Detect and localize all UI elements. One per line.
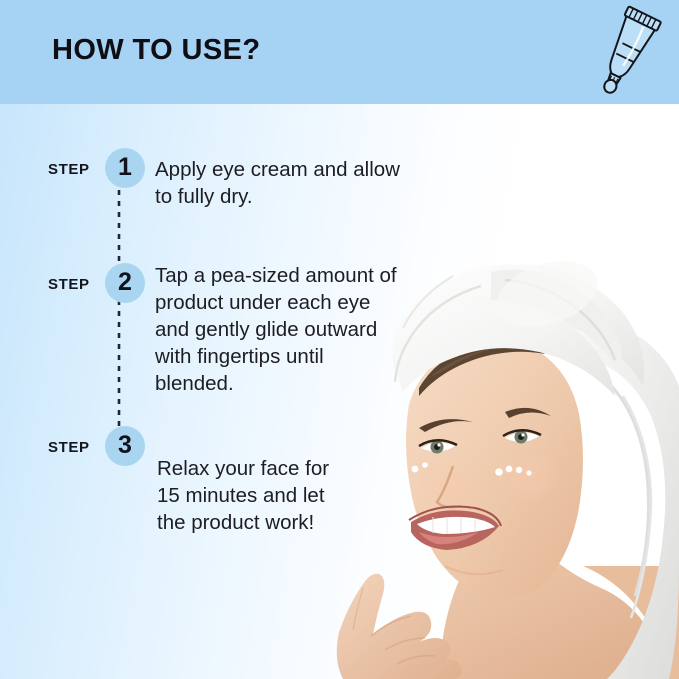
step-1-text: Apply eye cream and allow to fully dry. [155,156,400,210]
step-2-text: Tap a pea-sized amount of product under … [155,262,397,397]
step-1-label: STEP [48,161,90,178]
step-2-number-badge: 2 [105,263,145,303]
step-1-number: 1 [118,155,132,180]
step-3-number-badge: 3 [105,426,145,466]
step-2-number: 2 [118,270,132,295]
how-to-use-poster: HOW TO USE? [0,0,679,679]
step-2-label: STEP [48,276,90,293]
step-connector-line [117,168,121,453]
step-1-number-badge: 1 [105,148,145,188]
step-3-number: 3 [118,433,132,458]
steps-list: STEP 1 Apply eye cream and allow to full… [0,0,679,679]
step-3-label: STEP [48,439,90,456]
step-3-text: Relax your face for 15 minutes and let t… [157,455,329,536]
